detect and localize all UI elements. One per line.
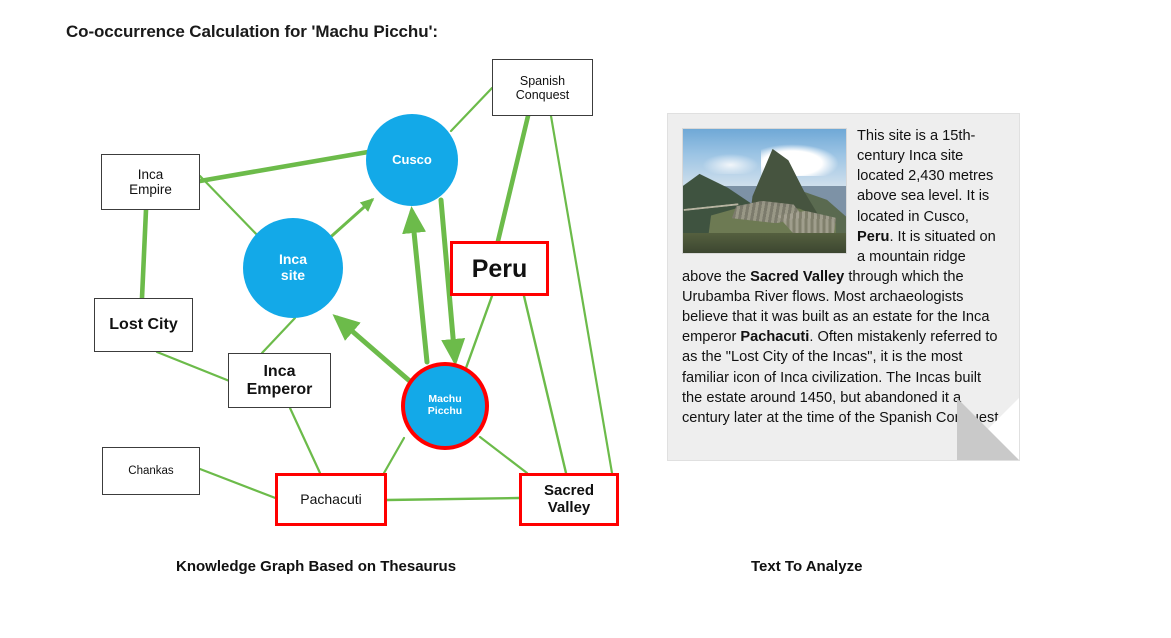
- node-label: SacredValley: [544, 483, 594, 517]
- node-label: Pachacuti: [300, 492, 361, 508]
- graph-node-lost-city[interactable]: Lost City: [94, 298, 193, 352]
- graph-node-inca-site[interactable]: Incasite: [243, 218, 343, 318]
- node-label: IncaEmperor: [247, 363, 313, 399]
- node-label: Peru: [472, 255, 528, 283]
- graph-node-inca-empire[interactable]: IncaEmpire: [101, 154, 200, 210]
- graph-node-spanish-conquest[interactable]: SpanishConquest: [492, 59, 593, 116]
- text-panel-caption: Text To Analyze: [751, 558, 862, 575]
- node-label: Cusco: [392, 153, 432, 168]
- highlighted-term: Peru: [857, 229, 889, 245]
- highlighted-term: Pachacuti: [740, 329, 809, 345]
- node-label: IncaEmpire: [129, 167, 172, 197]
- page-fold-shadow-icon: [957, 398, 1019, 460]
- node-label: SpanishConquest: [516, 74, 570, 102]
- node-label: Incasite: [279, 252, 307, 283]
- graph-node-peru[interactable]: Peru: [450, 241, 549, 296]
- graph-caption: Knowledge Graph Based on Thesaurus: [176, 558, 456, 575]
- graph-node-sacred-valley[interactable]: SacredValley: [519, 473, 619, 526]
- graph-node-chankas[interactable]: Chankas: [102, 447, 200, 495]
- node-label: MachuPicchu: [428, 394, 462, 418]
- graph-node-pachacuti[interactable]: Pachacuti: [275, 473, 387, 526]
- graph-node-inca-emperor[interactable]: IncaEmperor: [228, 353, 331, 408]
- node-label: Chankas: [128, 465, 173, 478]
- highlighted-term: Sacred Valley: [750, 269, 844, 285]
- graph-node-machu-picchu[interactable]: MachuPicchu: [401, 362, 489, 450]
- paragraph-run: This site is a 15th-century Inca site lo…: [857, 128, 993, 225]
- knowledge-graph-panel: SpanishConquest IncaEmpire Cusco Incasit…: [0, 0, 660, 545]
- node-label: Lost City: [109, 316, 177, 334]
- machu-picchu-photo: [682, 128, 847, 254]
- text-to-analyze-panel: This site is a 15th-century Inca site lo…: [667, 113, 1020, 461]
- graph-node-cusco[interactable]: Cusco: [366, 114, 458, 206]
